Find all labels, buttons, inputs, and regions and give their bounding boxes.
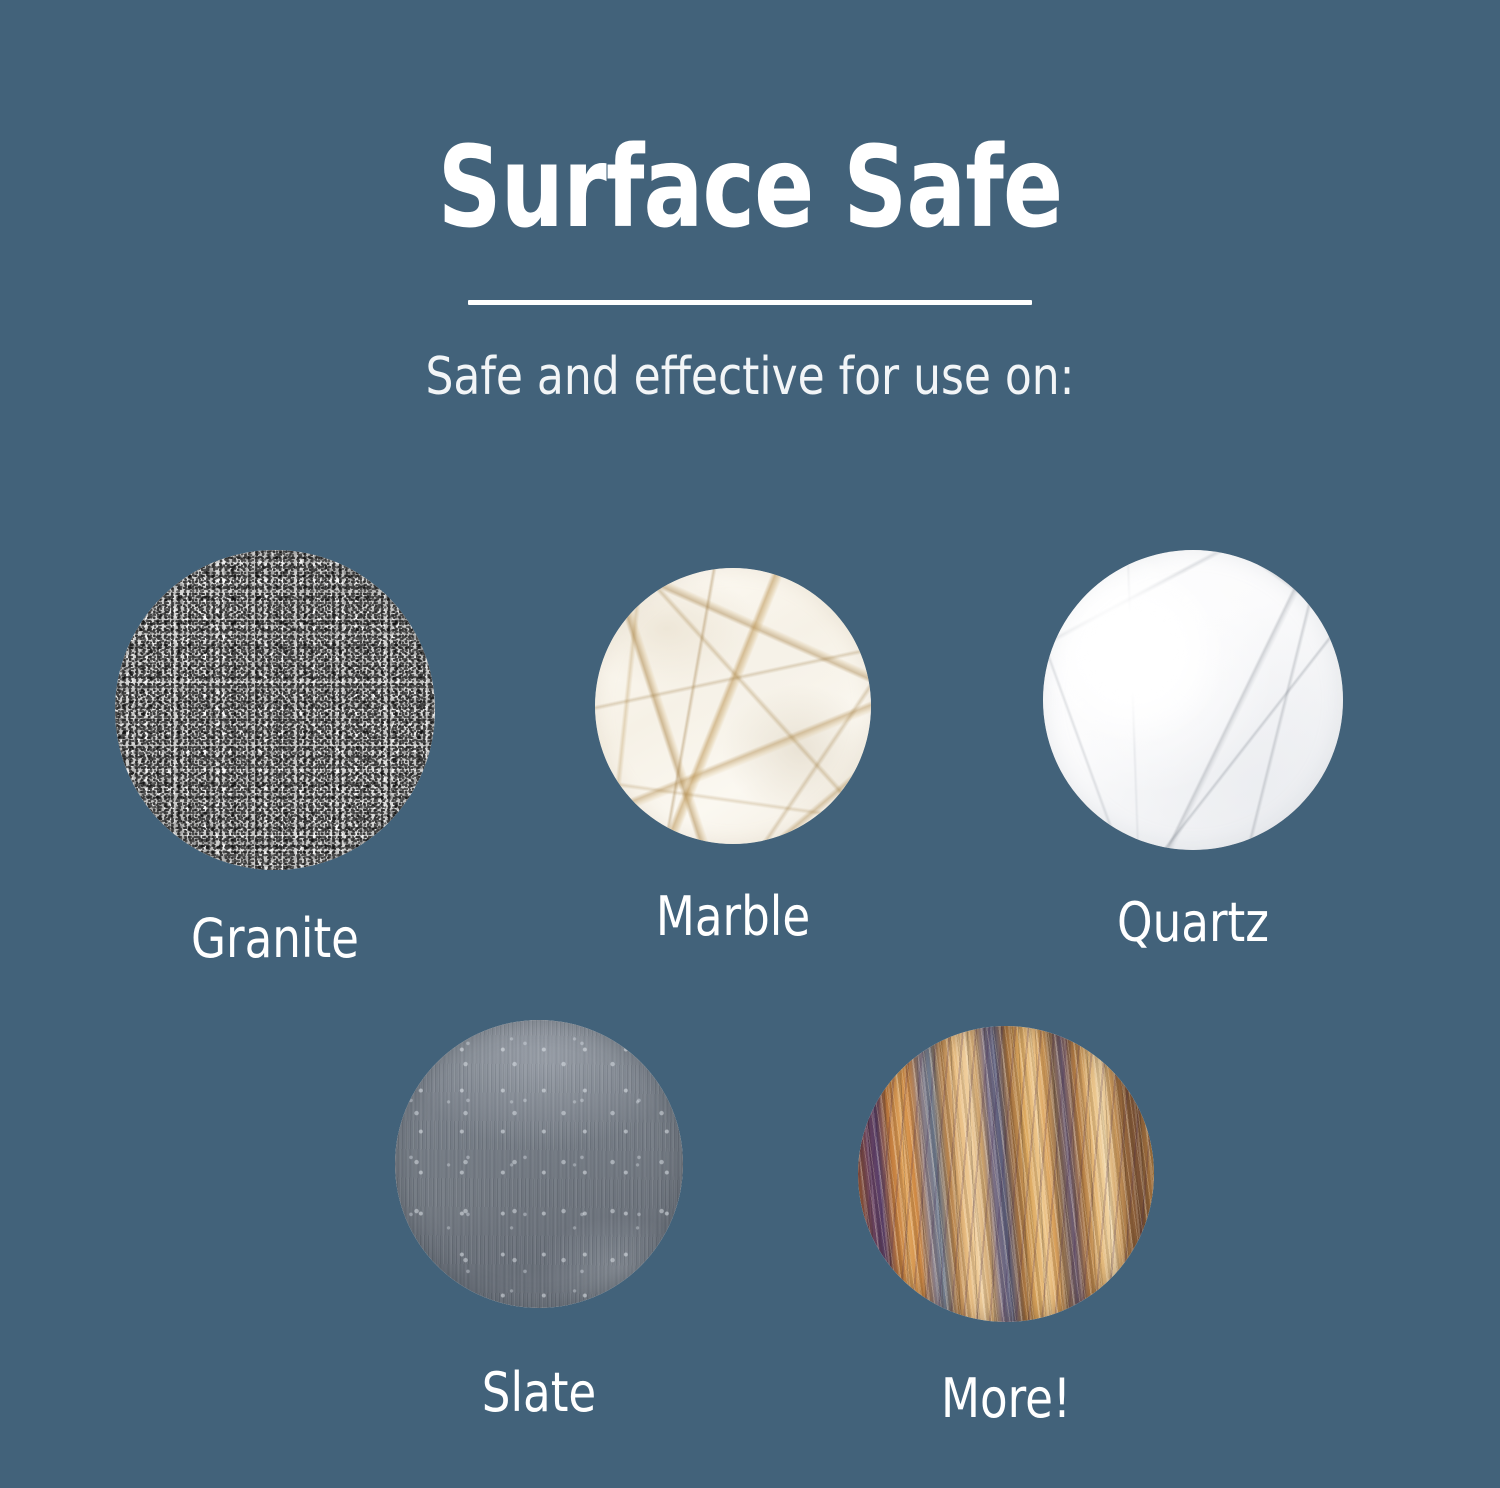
surface-item-slate: Slate [395, 1020, 683, 1420]
onyx-texture [858, 1026, 1154, 1322]
surface-safe-infographic: Surface Safe Safe and effective for use … [0, 0, 1500, 1488]
surface-item-quartz: Quartz [1043, 550, 1343, 950]
quartz-swatch-icon [1043, 550, 1343, 850]
granite-texture [115, 550, 435, 870]
onyx-swatch-icon [858, 1026, 1154, 1322]
title-divider-wrap [0, 300, 1500, 305]
surface-label-marble: Marble [605, 890, 862, 944]
granite-swatch-icon [115, 550, 435, 870]
quartz-texture [1043, 550, 1343, 850]
header: Surface Safe [0, 0, 1500, 244]
marble-swatch-icon [595, 568, 871, 844]
surface-label-more: More! [868, 1372, 1143, 1426]
surface-label-granite: Granite [126, 912, 424, 966]
surface-swatch-grid: Granite Marble Quartz Slate [0, 530, 1500, 1428]
surface-label-quartz: Quartz [1054, 896, 1333, 950]
slate-swatch-icon [395, 1020, 683, 1308]
marble-texture [595, 568, 871, 844]
surface-label-slate: Slate [405, 1366, 673, 1420]
page-subtitle: Safe and effective for use on: [45, 348, 1455, 408]
page-title: Surface Safe [90, 0, 1410, 244]
surface-item-granite: Granite [115, 550, 435, 966]
surface-row-top: Granite Marble Quartz [0, 530, 1500, 950]
surface-item-marble: Marble [595, 568, 871, 944]
surface-item-more: More! [858, 1026, 1154, 1426]
slate-texture [395, 1020, 683, 1308]
surface-row-bottom: Slate More! [0, 998, 1500, 1428]
title-divider [468, 300, 1032, 305]
